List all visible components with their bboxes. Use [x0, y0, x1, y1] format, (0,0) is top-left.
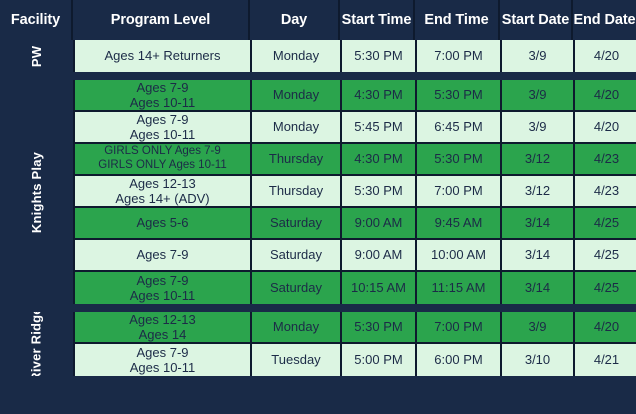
cell-start-date: 3/9 [502, 40, 575, 72]
cell-start-time: 5:00 PM [342, 344, 417, 376]
program-level-line: Ages 10-11 [130, 127, 196, 142]
facility-group: PWAges 14+ ReturnersMonday5:30 PM7:00 PM… [0, 40, 636, 72]
table-row[interactable]: GIRLS ONLY Ages 7-9GIRLS ONLY Ages 10-11… [75, 144, 636, 176]
program-level-line: GIRLS ONLY Ages 10-11 [98, 159, 227, 173]
cell-end-date: 4/20 [575, 112, 636, 144]
cell-end-date: 4/23 [575, 144, 636, 176]
cell-program-level: Ages 12-13Ages 14+ (ADV) [75, 176, 252, 208]
cell-end-date: 4/21 [575, 344, 636, 376]
cell-day: Monday [252, 80, 342, 112]
cell-start-date: 3/9 [502, 80, 575, 112]
column-header-start-date: Start Date [500, 0, 573, 40]
cell-start-date: 3/14 [502, 208, 575, 240]
cell-start-time: 9:00 AM [342, 240, 417, 272]
table-row[interactable]: Ages 7-9Saturday9:00 AM10:00 AM3/144/25 [75, 240, 636, 272]
facility-group: River RidgeAges 12-13Ages 14Monday5:30 P… [0, 312, 636, 376]
table-row[interactable]: Ages 12-13Ages 14+ (ADV)Thursday5:30 PM7… [75, 176, 636, 208]
facility-group-separator [0, 304, 636, 312]
facility-label-river-ridge: River Ridge [0, 312, 73, 376]
cell-program-level: Ages 5-6 [75, 208, 252, 240]
cell-end-time: 6:45 PM [417, 112, 502, 144]
program-level-line: Ages 7-9 [136, 112, 188, 127]
table-row[interactable]: Ages 14+ ReturnersMonday5:30 PM7:00 PM3/… [75, 40, 636, 72]
cell-start-time: 4:30 PM [342, 144, 417, 176]
cell-end-time: 5:30 PM [417, 80, 502, 112]
cell-end-time: 9:45 AM [417, 208, 502, 240]
table-row[interactable]: Ages 5-6Saturday9:00 AM9:45 AM3/144/25 [75, 208, 636, 240]
table-row[interactable]: Ages 7-9Ages 10-11Tuesday5:00 PM6:00 PM3… [75, 344, 636, 376]
cell-day: Tuesday [252, 344, 342, 376]
cell-day: Monday [252, 312, 342, 344]
cell-end-time: 7:00 PM [417, 40, 502, 72]
facility-label-text: Knights Play [29, 151, 44, 232]
cell-start-date: 3/14 [502, 272, 575, 304]
program-level-line: Ages 14+ Returners [105, 48, 221, 63]
program-level-line: Ages 10-11 [130, 95, 196, 110]
cell-day: Monday [252, 40, 342, 72]
cell-program-level: Ages 7-9Ages 10-11 [75, 112, 252, 144]
cell-end-date: 4/25 [575, 272, 636, 304]
program-schedule-table: Facility Program Level Day Start Time En… [0, 0, 636, 414]
cell-start-date: 3/10 [502, 344, 575, 376]
cell-start-time: 5:30 PM [342, 40, 417, 72]
cell-program-level: Ages 7-9 [75, 240, 252, 272]
cell-day: Saturday [252, 208, 342, 240]
cell-end-time: 7:00 PM [417, 176, 502, 208]
cell-end-date: 4/23 [575, 176, 636, 208]
facility-label-text: PW [29, 45, 44, 66]
column-header-program-level: Program Level [73, 0, 250, 40]
cell-program-level: Ages 7-9Ages 10-11 [75, 344, 252, 376]
program-level-line: Ages 12-13 [129, 312, 196, 327]
cell-day: Saturday [252, 240, 342, 272]
cell-end-time: 7:00 PM [417, 312, 502, 344]
cell-start-date: 3/12 [502, 144, 575, 176]
table-row[interactable]: Ages 12-13Ages 14Monday5:30 PM7:00 PM3/9… [75, 312, 636, 344]
cell-program-level: GIRLS ONLY Ages 7-9GIRLS ONLY Ages 10-11 [75, 144, 252, 176]
table-row[interactable]: Ages 7-9Ages 10-11Saturday10:15 AM11:15 … [75, 272, 636, 304]
cell-start-time: 10:15 AM [342, 272, 417, 304]
cell-program-level: Ages 7-9Ages 10-11 [75, 272, 252, 304]
program-level-line: Ages 5-6 [136, 215, 188, 230]
cell-start-date: 3/9 [502, 312, 575, 344]
facility-rows: Ages 14+ ReturnersMonday5:30 PM7:00 PM3/… [73, 40, 636, 72]
facility-group-separator [0, 72, 636, 80]
cell-program-level: Ages 7-9Ages 10-11 [75, 80, 252, 112]
cell-start-time: 5:45 PM [342, 112, 417, 144]
cell-end-date: 4/25 [575, 240, 636, 272]
cell-start-date: 3/14 [502, 240, 575, 272]
facility-label-knights-play: Knights Play [0, 80, 73, 304]
column-header-day: Day [250, 0, 340, 40]
cell-end-time: 5:30 PM [417, 144, 502, 176]
column-header-end-date: End Date [573, 0, 636, 40]
cell-end-date: 4/20 [575, 80, 636, 112]
program-level-line: Ages 14+ (ADV) [115, 191, 209, 206]
program-level-line: Ages 10-11 [130, 360, 196, 375]
column-header-facility: Facility [0, 0, 73, 40]
program-level-line: GIRLS ONLY Ages 7-9 [104, 145, 221, 159]
program-level-line: Ages 7-9 [136, 247, 188, 262]
cell-end-date: 4/20 [575, 312, 636, 344]
cell-start-date: 3/9 [502, 112, 575, 144]
column-header-start-time: Start Time [340, 0, 415, 40]
cell-program-level: Ages 12-13Ages 14 [75, 312, 252, 344]
column-header-end-time: End Time [415, 0, 500, 40]
table-body: PWAges 14+ ReturnersMonday5:30 PM7:00 PM… [0, 40, 636, 376]
facility-label-pw: PW [0, 40, 73, 72]
program-level-line: Ages 7-9 [136, 273, 188, 288]
cell-end-date: 4/25 [575, 208, 636, 240]
cell-start-date: 3/12 [502, 176, 575, 208]
cell-end-date: 4/20 [575, 40, 636, 72]
program-level-line: Ages 7-9 [136, 80, 188, 95]
cell-start-time: 9:00 AM [342, 208, 417, 240]
cell-day: Thursday [252, 176, 342, 208]
facility-rows: Ages 12-13Ages 14Monday5:30 PM7:00 PM3/9… [73, 312, 636, 376]
cell-start-time: 5:30 PM [342, 176, 417, 208]
table-row[interactable]: Ages 7-9Ages 10-11Monday5:45 PM6:45 PM3/… [75, 112, 636, 144]
cell-end-time: 10:00 AM [417, 240, 502, 272]
program-level-line: Ages 12-13 [129, 176, 196, 191]
program-level-line: Ages 7-9 [136, 345, 188, 360]
cell-day: Monday [252, 112, 342, 144]
facility-rows: Ages 7-9Ages 10-11Monday4:30 PM5:30 PM3/… [73, 80, 636, 304]
facility-group: Knights PlayAges 7-9Ages 10-11Monday4:30… [0, 80, 636, 304]
cell-end-time: 11:15 AM [417, 272, 502, 304]
facility-label-text: River Ridge [29, 312, 44, 376]
program-level-line: Ages 14 [139, 327, 187, 342]
cell-start-time: 5:30 PM [342, 312, 417, 344]
program-level-line: Ages 10-11 [130, 288, 196, 303]
cell-start-time: 4:30 PM [342, 80, 417, 112]
cell-day: Thursday [252, 144, 342, 176]
table-header-row: Facility Program Level Day Start Time En… [0, 0, 636, 40]
table-row[interactable]: Ages 7-9Ages 10-11Monday4:30 PM5:30 PM3/… [75, 80, 636, 112]
cell-day: Saturday [252, 272, 342, 304]
cell-program-level: Ages 14+ Returners [75, 40, 252, 72]
cell-end-time: 6:00 PM [417, 344, 502, 376]
table-bottom-padding [0, 376, 636, 414]
